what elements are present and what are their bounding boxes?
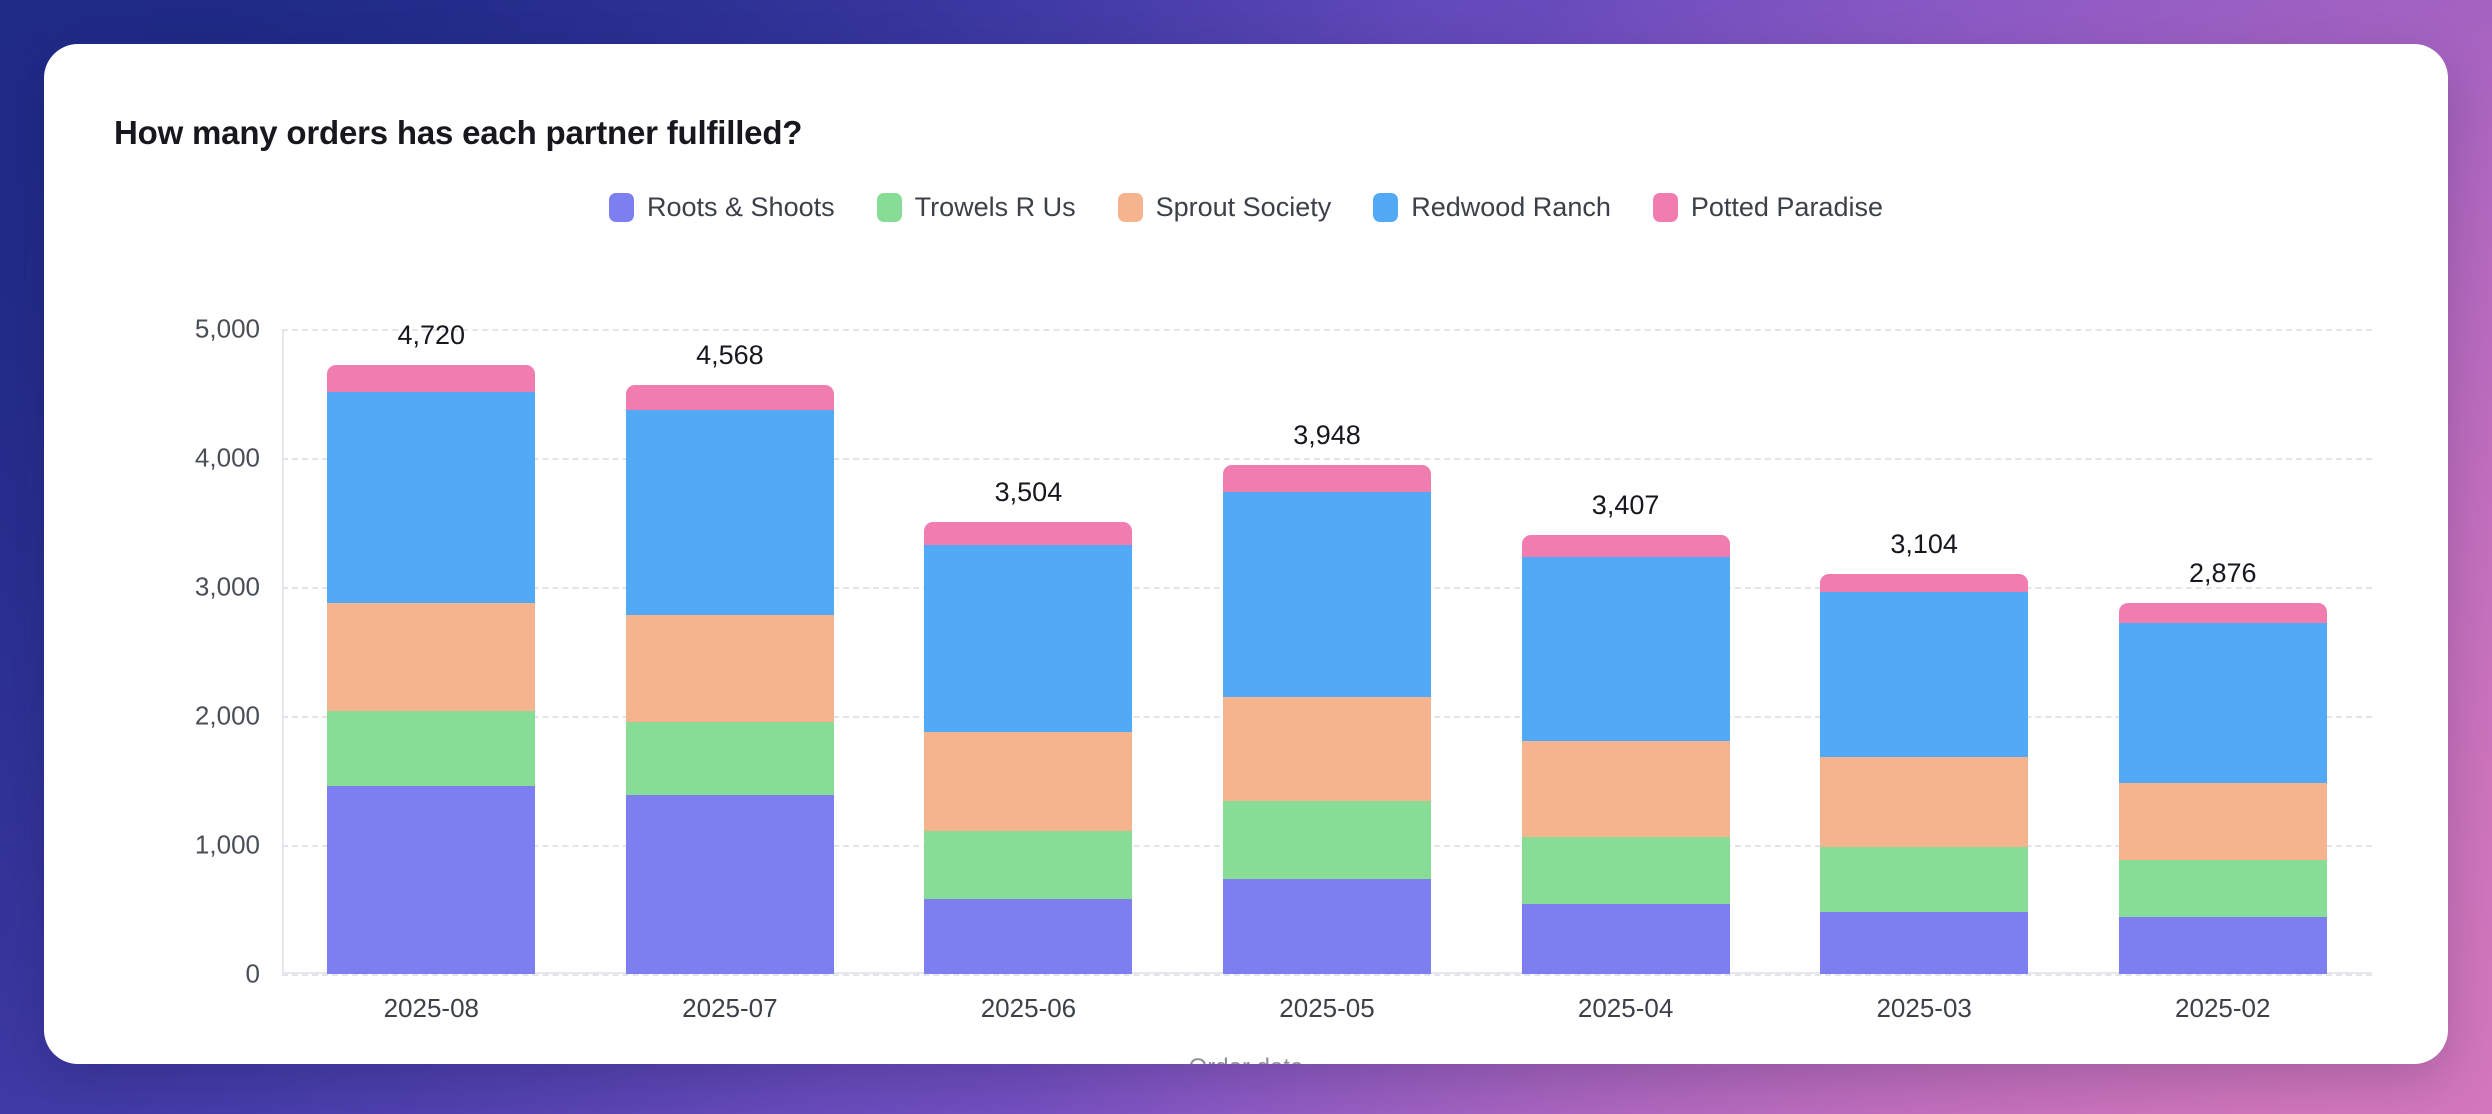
bar-segment[interactable] xyxy=(1223,801,1431,879)
bar-segment[interactable] xyxy=(1820,912,2028,974)
bar-segment[interactable] xyxy=(2119,623,2327,784)
y-axis-tick-label: 3,000 xyxy=(90,572,260,603)
bar-slot: 3,4072025-04 xyxy=(1476,329,1775,974)
bar-segment[interactable] xyxy=(1820,757,2028,847)
bar-segment[interactable] xyxy=(327,711,535,786)
bar-segment[interactable] xyxy=(1820,592,2028,756)
x-axis-tick-label: 2025-07 xyxy=(682,993,777,1024)
bar-segment[interactable] xyxy=(1820,574,2028,593)
x-axis-tick-label: 2025-02 xyxy=(2175,993,2270,1024)
bar-slot: 3,9482025-05 xyxy=(1178,329,1477,974)
bar-segment[interactable] xyxy=(626,722,834,795)
bar-segment[interactable] xyxy=(327,392,535,604)
bar-slot: 4,7202025-08 xyxy=(282,329,581,974)
stacked-bar-2025-04[interactable] xyxy=(1522,535,1730,975)
bar-segment[interactable] xyxy=(1223,465,1431,492)
y-axis-tick-label: 4,000 xyxy=(90,443,260,474)
stacked-bar-2025-08[interactable] xyxy=(327,365,535,974)
legend-item-potted-paradise[interactable]: Potted Paradise xyxy=(1653,192,1883,223)
bar-segment[interactable] xyxy=(2119,603,2327,622)
legend-swatch-icon xyxy=(609,193,634,222)
legend-label: Redwood Ranch xyxy=(1411,192,1611,223)
bar-slot: 2,8762025-02 xyxy=(2073,329,2372,974)
x-axis-tick-label: 2025-03 xyxy=(1876,993,1971,1024)
bar-segment[interactable] xyxy=(924,732,1132,831)
legend-swatch-icon xyxy=(1653,193,1678,222)
bar-segment[interactable] xyxy=(924,522,1132,545)
chart-plot-area: 01,0002,0003,0004,0005,000 4,7202025-084… xyxy=(282,329,2372,974)
y-axis-tick-label: 0 xyxy=(90,959,260,990)
legend-item-sprout-society[interactable]: Sprout Society xyxy=(1118,192,1332,223)
bar-slot: 3,1042025-03 xyxy=(1775,329,2074,974)
bar-segment[interactable] xyxy=(924,545,1132,732)
bar-total-label: 3,407 xyxy=(1592,490,1660,521)
chart-title: How many orders has each partner fulfill… xyxy=(114,114,802,152)
gridline xyxy=(282,974,2372,976)
bar-segment[interactable] xyxy=(626,795,834,974)
bar-segment[interactable] xyxy=(1522,535,1730,558)
stacked-bar-2025-06[interactable] xyxy=(924,522,1132,974)
bar-slot: 4,5682025-07 xyxy=(581,329,880,974)
bar-segment[interactable] xyxy=(1522,904,1730,974)
legend-label: Sprout Society xyxy=(1156,192,1332,223)
legend-label: Roots & Shoots xyxy=(647,192,835,223)
legend-swatch-icon xyxy=(1373,193,1398,222)
bar-segment[interactable] xyxy=(1522,741,1730,837)
stacked-bar-2025-05[interactable] xyxy=(1223,465,1431,974)
stacked-bar-2025-02[interactable] xyxy=(2119,603,2327,974)
bar-segment[interactable] xyxy=(2119,860,2327,917)
x-axis-tick-label: 2025-04 xyxy=(1578,993,1673,1024)
bar-segment[interactable] xyxy=(2119,783,2327,860)
bar-segment[interactable] xyxy=(1223,879,1431,974)
bar-segment[interactable] xyxy=(327,786,535,974)
bar-segment[interactable] xyxy=(1223,492,1431,698)
stacked-bar-2025-07[interactable] xyxy=(626,385,834,974)
bar-segment[interactable] xyxy=(1820,847,2028,912)
legend-swatch-icon xyxy=(1118,193,1143,222)
bar-segment[interactable] xyxy=(626,410,834,615)
bar-segment[interactable] xyxy=(626,615,834,722)
legend-swatch-icon xyxy=(877,193,902,222)
y-axis-tick-label: 2,000 xyxy=(90,701,260,732)
chart-legend: Roots & ShootsTrowels R UsSprout Society… xyxy=(44,192,2448,223)
x-axis-tick-label: 2025-08 xyxy=(384,993,479,1024)
bar-segment[interactable] xyxy=(924,831,1132,899)
bar-total-label: 2,876 xyxy=(2189,558,2257,589)
legend-label: Trowels R Us xyxy=(915,192,1076,223)
bar-segment[interactable] xyxy=(327,365,535,391)
chart-card: How many orders has each partner fulfill… xyxy=(44,44,2448,1064)
bar-series-group: 4,7202025-084,5682025-073,5042025-063,94… xyxy=(282,329,2372,974)
bar-slot: 3,5042025-06 xyxy=(879,329,1178,974)
bar-total-label: 4,720 xyxy=(397,320,465,351)
bar-total-label: 3,948 xyxy=(1293,420,1361,451)
bar-total-label: 3,104 xyxy=(1890,529,1958,560)
legend-item-redwood-ranch[interactable]: Redwood Ranch xyxy=(1373,192,1611,223)
bar-segment[interactable] xyxy=(1522,557,1730,740)
legend-item-roots-shoots[interactable]: Roots & Shoots xyxy=(609,192,835,223)
legend-label: Potted Paradise xyxy=(1691,192,1883,223)
y-axis-tick-label: 5,000 xyxy=(90,314,260,345)
x-axis-tick-label: 2025-05 xyxy=(1279,993,1374,1024)
bar-segment[interactable] xyxy=(924,899,1132,974)
bar-total-label: 4,568 xyxy=(696,340,764,371)
legend-item-trowels-r-us[interactable]: Trowels R Us xyxy=(877,192,1076,223)
bar-segment[interactable] xyxy=(2119,917,2327,974)
x-axis-title: Order date xyxy=(44,1054,2448,1064)
bar-segment[interactable] xyxy=(327,603,535,711)
bar-segment[interactable] xyxy=(1522,837,1730,905)
bar-segment[interactable] xyxy=(626,385,834,411)
bar-total-label: 3,504 xyxy=(995,477,1063,508)
x-axis-tick-label: 2025-06 xyxy=(981,993,1076,1024)
bar-segment[interactable] xyxy=(1223,697,1431,801)
stacked-bar-2025-03[interactable] xyxy=(1820,574,2028,974)
y-axis-tick-label: 1,000 xyxy=(90,830,260,861)
